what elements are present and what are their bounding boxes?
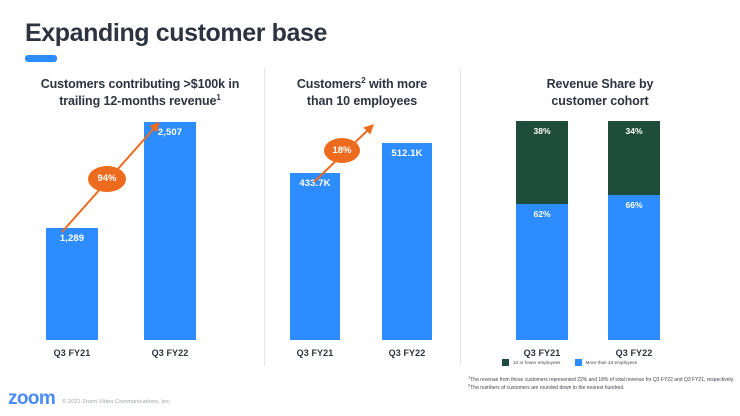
charts-container: Customers contributing >$100k in trailin… — [0, 66, 740, 366]
category-label-q3fy21-chart3: Q3 FY21 — [516, 348, 568, 358]
category-label-q3fy22-chart3: Q3 FY22 — [608, 348, 660, 358]
legend-item-more-than-10[interactable]: More than 10 employees — [575, 359, 638, 366]
chart-panel-customers-10-employees: Customers2 with more than 10 employees 4… — [266, 66, 458, 362]
bar-value-q3fy21-chart1: 1,289 — [46, 233, 98, 244]
stack-segment-more-than-10-q3fy22[interactable]: 66% — [608, 195, 660, 340]
chart-title-3: Revenue Share by customer cohort — [462, 66, 738, 110]
legend-label-more-than-10: More than 10 employees — [586, 360, 638, 365]
title-accent-bar — [25, 55, 57, 62]
panel-divider-1 — [264, 68, 265, 366]
slide: Expanding customer base Customers contri… — [0, 0, 740, 416]
stack-label-10-or-fewer-q3fy22: 34% — [608, 126, 660, 136]
stack-segment-10-or-fewer-q3fy22[interactable]: 34% — [608, 121, 660, 195]
copyright-text: © 2021 Zoom Video Communications, Inc. — [62, 399, 171, 405]
chart-title-2: Customers2 with more than 10 employees — [266, 66, 458, 110]
slide-footer: zoom © 2021 Zoom Video Communications, I… — [0, 382, 740, 416]
chart-plot-1: 1,289 2,507 94% Q3 FY21 Q3 — [18, 110, 262, 362]
bar-value-q3fy22-chart2: 512.1K — [382, 148, 432, 159]
chart-title-2-line1b: with more — [366, 77, 428, 91]
legend-swatch-blue-icon — [575, 359, 582, 366]
growth-badge-chart1: 94% — [88, 166, 126, 192]
bar-value-q3fy22-chart1: 2,507 — [144, 127, 196, 138]
chart-title-2-line1a: Customers — [297, 77, 361, 91]
bar-q3fy22-chart2[interactable]: 512.1K — [382, 143, 432, 340]
legend-label-10-or-fewer: 10 or fewer employees — [513, 360, 561, 365]
chart-panel-revenue-share: Revenue Share by customer cohort 38% 62% — [462, 66, 738, 362]
chart-plot-2: 433.7K 512.1K 18% Q3 FY21 Q3 FY22 — [266, 110, 458, 362]
bar-q3fy21-chart2[interactable]: 433.7K — [290, 173, 340, 340]
page-title: Expanding customer base — [25, 20, 327, 48]
category-label-q3fy21-chart1: Q3 FY21 — [46, 348, 98, 358]
growth-badge-chart2: 18% — [324, 138, 360, 163]
legend-swatch-green-icon — [502, 359, 509, 366]
chart-plot-3: 38% 62% 34% 66% Q3 FY21 Q3 FY22 — [462, 110, 738, 362]
category-label-q3fy22-chart2: Q3 FY22 — [382, 348, 432, 358]
footnote-marker-1: 1 — [216, 93, 220, 102]
chart-title-2-line2: than 10 employees — [307, 94, 417, 108]
stack-segment-10-or-fewer-q3fy21[interactable]: 38% — [516, 121, 568, 204]
stack-label-more-than-10-q3fy22: 66% — [608, 200, 660, 210]
chart-title-1-line2: trailing 12-months revenue — [59, 94, 216, 108]
chart-title-1-line1: Customers contributing >$100k in — [41, 77, 240, 91]
chart-legend: 10 or fewer employees More than 10 emplo… — [502, 359, 637, 366]
stacked-bar-q3fy21[interactable]: 38% 62% — [516, 121, 568, 340]
stacked-bar-q3fy22[interactable]: 34% 66% — [608, 121, 660, 340]
stack-segment-more-than-10-q3fy21[interactable]: 62% — [516, 204, 568, 340]
chart-title-3-line1: Revenue Share by — [547, 77, 654, 91]
legend-item-10-or-fewer[interactable]: 10 or fewer employees — [502, 359, 561, 366]
chart-title-3-line2: customer cohort — [551, 94, 648, 108]
chart-title-1: Customers contributing >$100k in trailin… — [18, 66, 262, 110]
bar-q3fy21-chart1[interactable]: 1,289 — [46, 228, 98, 340]
bar-value-q3fy21-chart2: 433.7K — [290, 178, 340, 189]
stack-label-more-than-10-q3fy21: 62% — [516, 209, 568, 219]
zoom-logo: zoom — [8, 388, 55, 410]
category-label-q3fy21-chart2: Q3 FY21 — [290, 348, 340, 358]
chart-panel-customers-100k: Customers contributing >$100k in trailin… — [18, 66, 262, 362]
bar-q3fy22-chart1[interactable]: 2,507 — [144, 122, 196, 340]
category-label-q3fy22-chart1: Q3 FY22 — [144, 348, 196, 358]
panel-divider-2 — [460, 68, 461, 366]
stack-label-10-or-fewer-q3fy21: 38% — [516, 126, 568, 136]
